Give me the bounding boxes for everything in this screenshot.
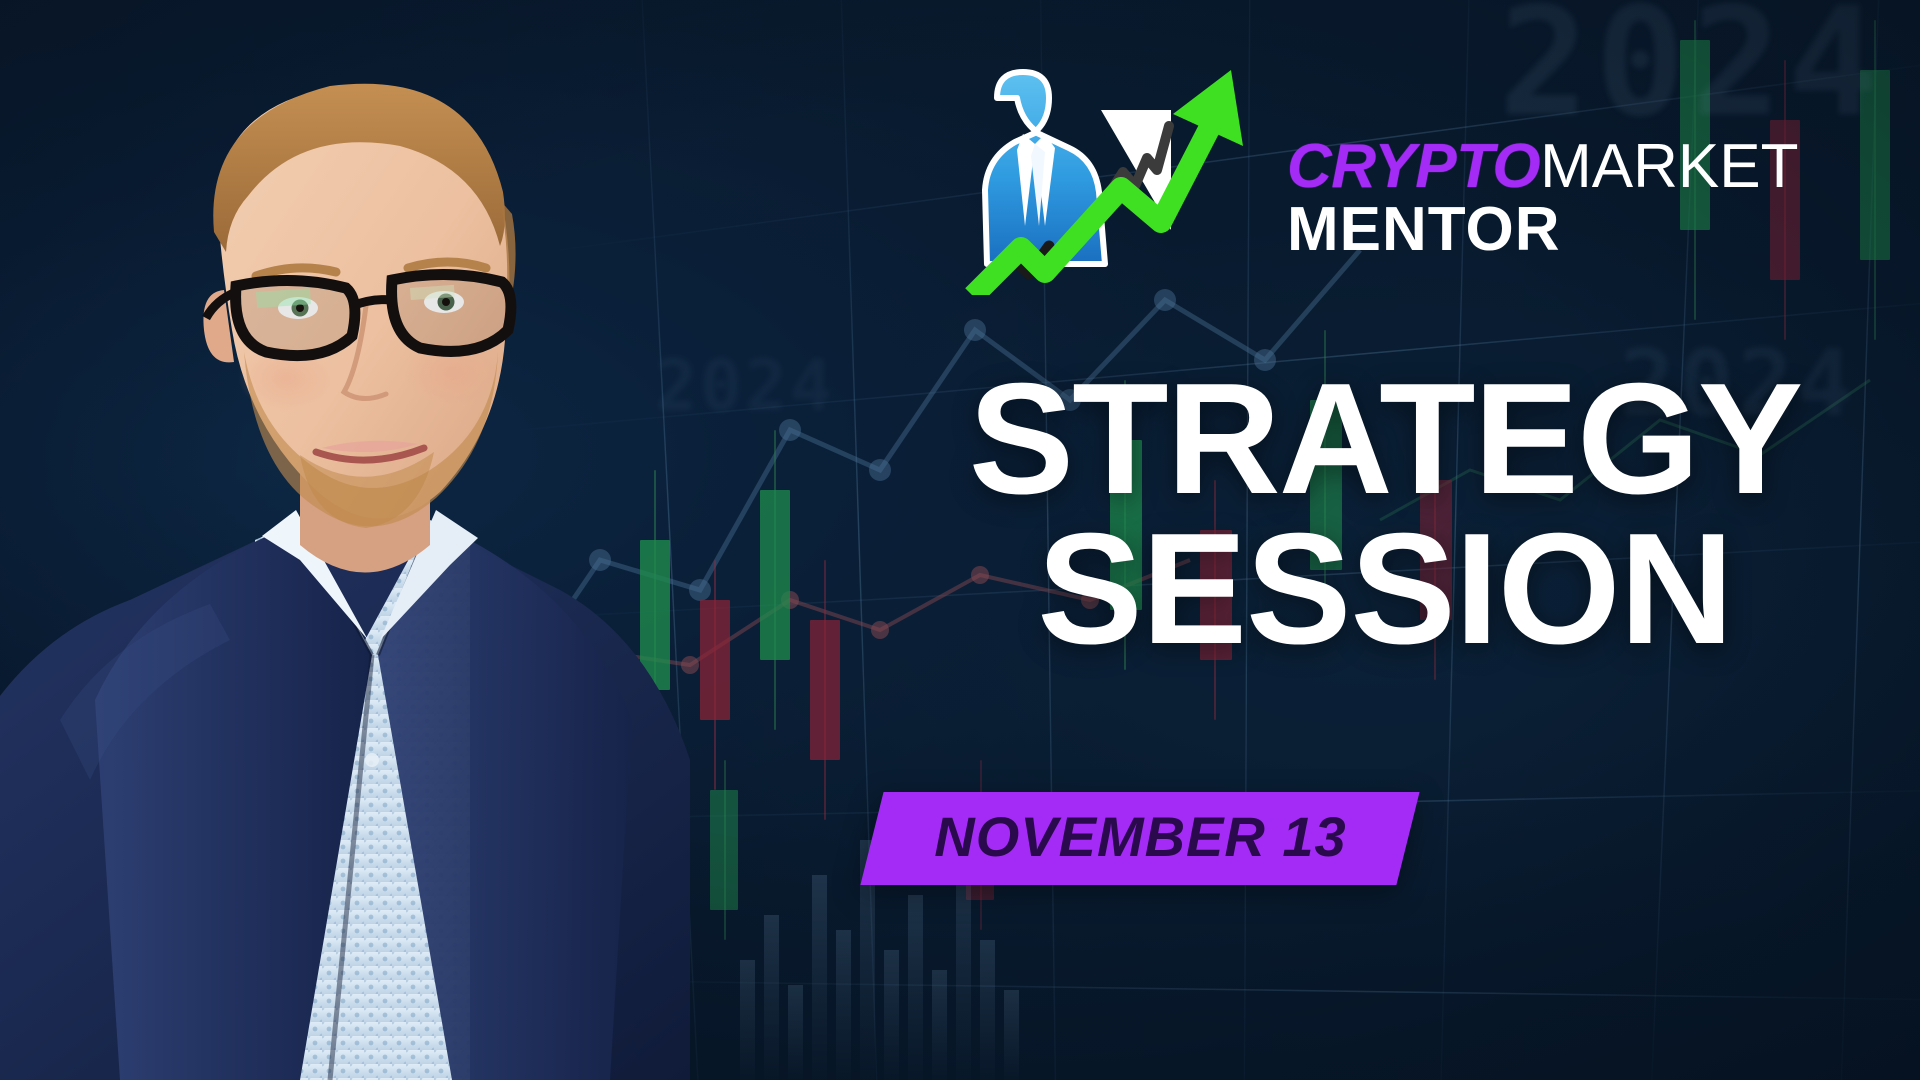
date-badge-label: NOVEMBER 13 [934, 808, 1346, 867]
promo-banner-canvas: 2024 2024 2024 [0, 0, 1920, 1080]
title-line-1: STRATEGY [880, 372, 1890, 508]
logo-wordmark-top: CRYPTOMARKET [1287, 138, 1798, 195]
title-line-2: SESSION [880, 522, 1890, 658]
businessman-growth-arrow-icon [925, 60, 1295, 295]
logo-word-mentor: MENTOR [1287, 201, 1798, 260]
page-title: STRATEGY SESSION [880, 372, 1890, 658]
logo-word-crypto: CRYPTO [1287, 132, 1540, 201]
avatar [0, 0, 720, 1080]
logo-word-market: MARKET [1540, 132, 1798, 201]
date-badge: NOVEMBER 13 [860, 792, 1420, 885]
brand-logo: CRYPTOMARKET MENTOR [925, 60, 1798, 295]
suit-torso [0, 510, 690, 1080]
